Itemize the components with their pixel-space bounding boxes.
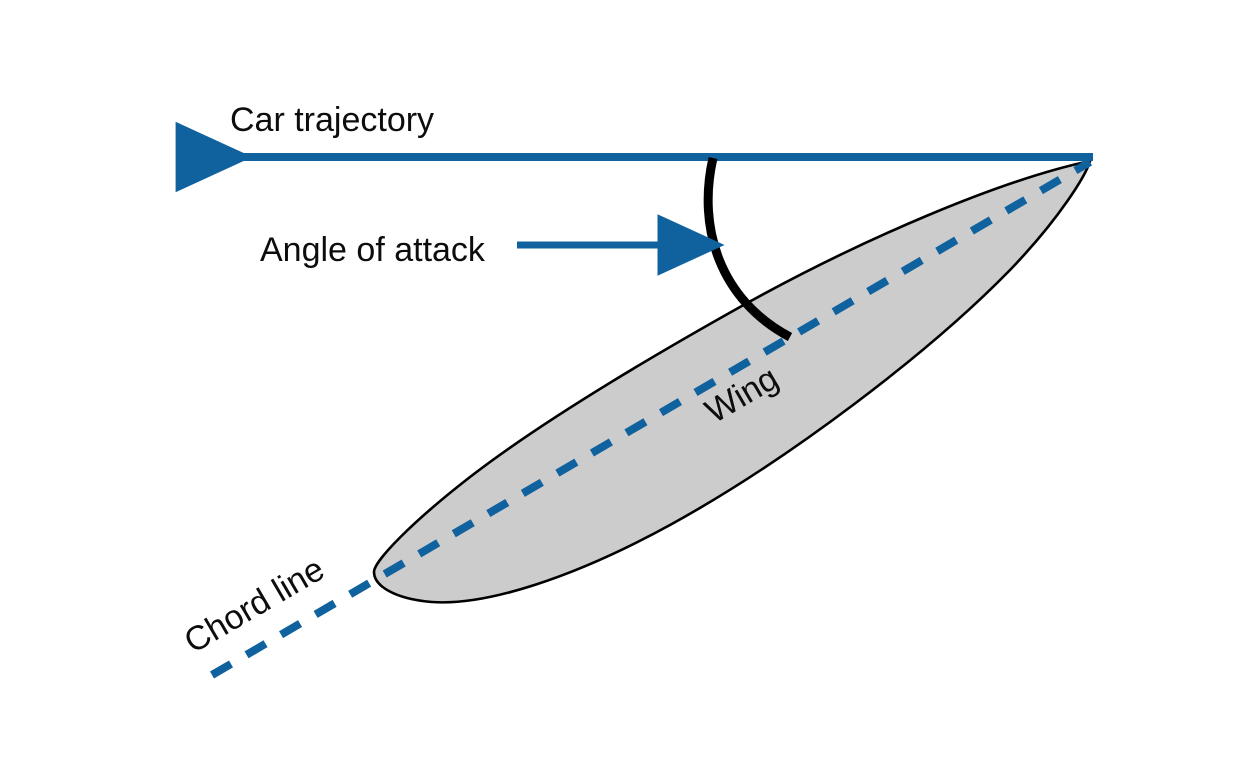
diagram-canvas: Car trajectory Angle of attack Wing Chor… [0, 0, 1248, 768]
label-angle-of-attack: Angle of attack [260, 231, 486, 269]
airfoil-angle-of-attack-diagram: Car trajectory Angle of attack Wing Chor… [0, 0, 1248, 768]
label-chord-line: Chord line [178, 550, 331, 661]
label-car-trajectory: Car trajectory [230, 101, 434, 139]
